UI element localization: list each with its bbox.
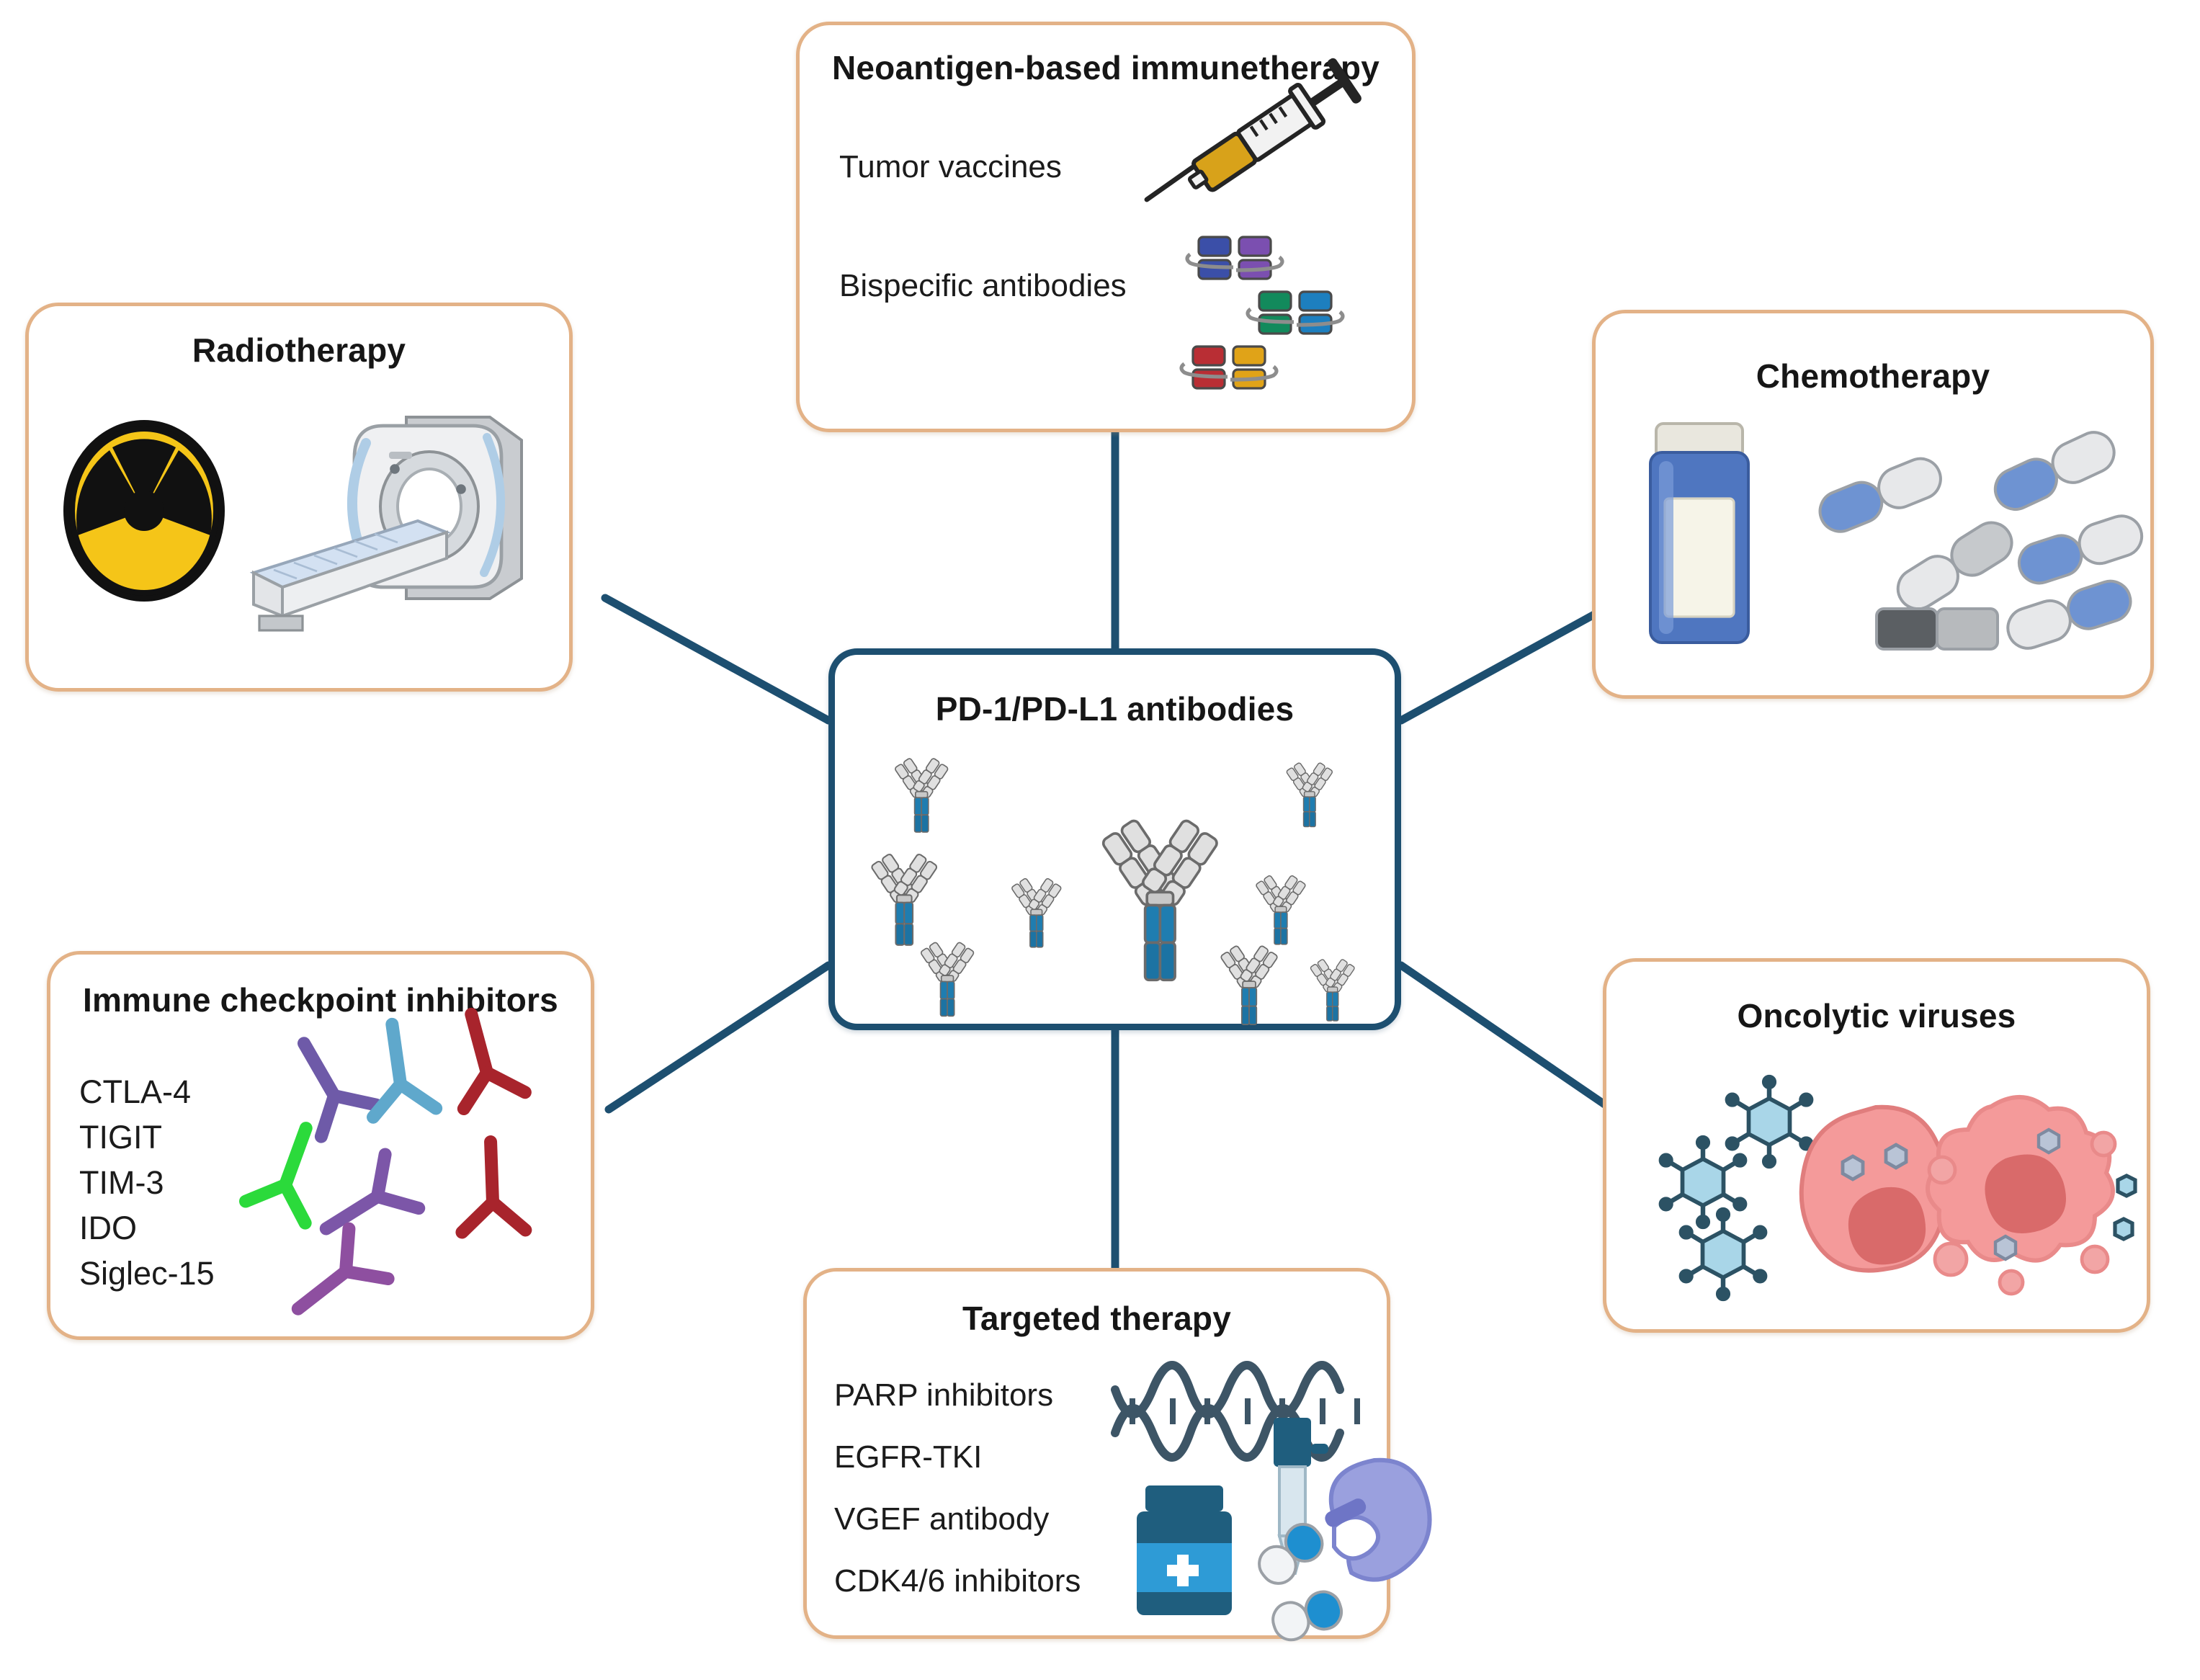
node-pd1-pdl1-antibodies[interactable]: PD-1/PD-L1 antibodies: [828, 648, 1401, 1030]
connector-center-chemotherapy: [1401, 598, 1624, 720]
radiation-hazard-icon: [58, 414, 231, 609]
list-item: TIM-3: [79, 1166, 215, 1212]
lysed-cell-icon: [1916, 1081, 2132, 1304]
syringe-icon: [1138, 61, 1376, 213]
node-title-immune-checkpoint-inhibitors: Immune checkpoint inhibitors: [50, 980, 591, 1019]
list-item: VGEF antibody: [834, 1503, 1081, 1565]
node-immune-checkpoint-inhibitors[interactable]: Immune checkpoint inhibitors CTLA-4 TIGI…: [47, 951, 594, 1340]
list-item: IDO: [79, 1212, 215, 1257]
list-item: TIGIT: [79, 1121, 215, 1166]
node-title-pd1-pdl1: PD-1/PD-L1 antibodies: [835, 689, 1395, 728]
ici-item-list: CTLA-4 TIGIT TIM-3 IDO Siglec-15: [79, 1076, 215, 1303]
node-title-targeted-therapy: Targeted therapy: [807, 1299, 1387, 1338]
list-item: PARP inhibitors: [834, 1380, 1081, 1442]
capsule-icon: [1790, 436, 2121, 652]
list-item: EGFR-TKI: [834, 1442, 1081, 1503]
node-radiotherapy[interactable]: Radiotherapy: [25, 303, 573, 692]
node-title-chemotherapy: Chemotherapy: [1596, 357, 2150, 396]
antibody-icon: [231, 1041, 576, 1329]
node-oncolytic-viruses[interactable]: Oncolytic viruses: [1603, 958, 2150, 1333]
targeted-item-list: PARP inhibitors EGFR-TKI VGEF antibody C…: [834, 1380, 1081, 1627]
neoantigen-item-list: Tumor vaccines Bispecific antibodies: [839, 151, 1127, 389]
bispecific-antibody-icon: [1181, 234, 1398, 400]
connector-center-oncolytic: [1401, 965, 1617, 1113]
node-title-radiotherapy: Radiotherapy: [29, 331, 569, 370]
list-item: Tumor vaccines: [839, 151, 1127, 270]
list-item: CTLA-4: [79, 1076, 215, 1121]
protein-icon: [1311, 1452, 1441, 1596]
pill-bottle-icon: [1639, 418, 1769, 656]
connector-center-radiotherapy: [605, 598, 828, 720]
diagram-canvas: Radiotherapy: [0, 0, 2200, 1680]
node-targeted-therapy[interactable]: Targeted therapy PARP inhibitors EGFR-TK…: [803, 1268, 1390, 1639]
list-item: Bispecific antibodies: [839, 270, 1127, 389]
list-item: CDK4/6 inhibitors: [834, 1565, 1081, 1627]
node-neoantigen[interactable]: Neoantigen-based immunetherapy Tumor vac…: [796, 22, 1416, 432]
node-title-oncolytic-viruses: Oncolytic viruses: [1606, 996, 2147, 1035]
pd1-antibody-cluster-icon: [849, 734, 1393, 1019]
connector-center-ici: [609, 965, 828, 1109]
node-chemotherapy[interactable]: Chemotherapy: [1592, 310, 2154, 699]
ct-scanner-icon: [245, 400, 547, 638]
list-item: Siglec-15: [79, 1257, 215, 1303]
